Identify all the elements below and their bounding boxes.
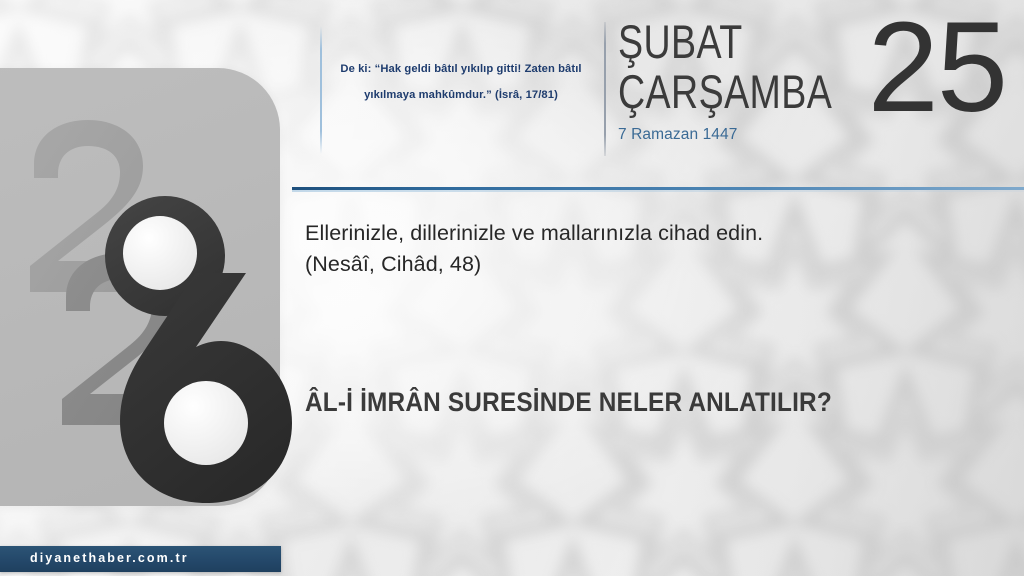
month-label: ŞUBAT — [618, 18, 832, 66]
day-number: 25 — [868, 4, 1006, 132]
hadith-text: Ellerinizle, dillerinizle ve mallarınızl… — [305, 221, 763, 245]
article-headline[interactable]: ÂL-İ İMRÂN SURESİNDE NELER ANLATILIR? — [305, 387, 949, 418]
year-logo-2026 — [0, 68, 300, 506]
verse-divider-left — [320, 26, 322, 154]
weekday-label: ÇARŞAMBA — [618, 66, 832, 118]
website-url[interactable]: diyanethaber.com.tr — [30, 551, 189, 565]
date-divider-rule — [604, 22, 606, 156]
hadith-source: (Nesâî, Cihâd, 48) — [305, 249, 965, 280]
quran-verse: De ki: “Hak geldi bâtıl yıkılıp gitti! Z… — [336, 56, 586, 109]
verse-line-1: De ki: “Hak geldi bâtıl yıkılıp gitti! Z… — [340, 63, 581, 75]
verse-line-2: yıkılmaya mahkûmdur.” (İsrâ, 17/81) — [364, 89, 558, 101]
calendar-page: De ki: “Hak geldi bâtıl yıkılıp gitti! Z… — [0, 0, 1024, 576]
date-block: ŞUBAT ÇARŞAMBA 7 Ramazan 1447 — [618, 18, 886, 146]
hijri-date-label: 7 Ramazan 1447 — [618, 124, 886, 146]
hadith-block: Ellerinizle, dillerinizle ve mallarınızl… — [305, 218, 965, 280]
section-divider-shadow — [292, 190, 1024, 192]
